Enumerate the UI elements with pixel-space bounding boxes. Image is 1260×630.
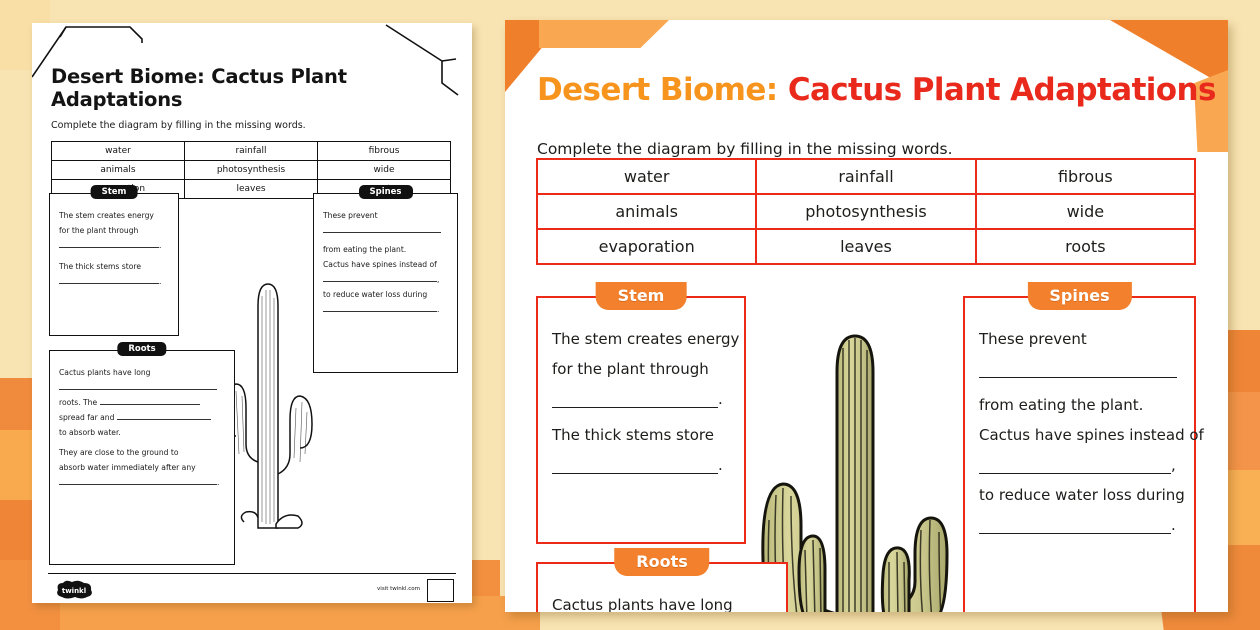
stem-answer-blank-1[interactable]: . (59, 238, 169, 253)
roots-text-line-7: absorb water immediately after any (59, 460, 225, 475)
word-cell: fibrous (318, 142, 451, 161)
word-cell: rainfall (185, 142, 318, 161)
spines-text-line-1: These prevent (979, 324, 1180, 354)
worksheet-main-page[interactable]: Desert Biome: Cactus Plant Adaptations C… (505, 20, 1228, 612)
spines-text-line-6: to reduce water loss during (323, 287, 448, 302)
spines-text-line-4: Cactus have spines instead of (323, 257, 448, 272)
thumbnail-stem-tab-label: Stem (91, 185, 138, 199)
stem-text-line-1: The stem creates energy (59, 208, 169, 223)
table-row: water rainfall fibrous (537, 159, 1195, 194)
spines-tab-label: Spines (1027, 282, 1131, 310)
spines-box: Spines These prevent from eating the pla… (963, 296, 1196, 612)
stem-text-line-1: The stem creates energy (552, 324, 730, 354)
thumbnail-stem-box: Stem The stem creates energy for the pla… (49, 193, 179, 336)
page-title-part-one: Desert Biome: (537, 72, 778, 108)
roots-text-line-1: Cactus plants have long (552, 590, 772, 612)
stem-tab-label: Stem (596, 282, 687, 310)
thumbnail-spines-box: Spines These prevent from eating the pla… (313, 193, 458, 373)
stem-text-line-2: for the plant through (59, 223, 169, 238)
word-cell: water (52, 142, 185, 161)
roots-box: Roots Cactus plants have long (536, 562, 788, 612)
stem-answer-blank-2[interactable]: . (59, 274, 169, 289)
roots-answer-blank-1[interactable] (59, 380, 225, 395)
worksheet-thumbnail-blackwhite[interactable]: Desert Biome: Cactus Plant Adaptations C… (32, 23, 472, 603)
roots-tab-label: Roots (614, 548, 709, 576)
corner-decoration-top-left-light (539, 20, 669, 48)
spines-text-line-4: Cactus have spines instead of (979, 420, 1180, 450)
word-cell: animals (52, 161, 185, 180)
word-cell-water[interactable]: water (537, 159, 756, 194)
word-cell-photosynthesis[interactable]: photosynthesis (756, 194, 975, 229)
spines-answer-blank-1[interactable] (323, 223, 448, 238)
twinkl-badge-icon (427, 579, 454, 602)
visit-url-text: visit twinkl.com (377, 586, 420, 592)
thumbnail-footer-divider (48, 573, 456, 574)
spines-answer-blank-3[interactable]: . (323, 302, 448, 317)
twinkl-logo-icon: twinkl (54, 580, 96, 600)
stem-box: Stem The stem creates energy for the pla… (536, 296, 746, 544)
instruction-text: Complete the diagram by filling in the m… (537, 140, 953, 158)
roots-answer-blank-2[interactable]: roots. The (59, 395, 225, 410)
roots-text-line-6: They are close to the ground to (59, 445, 225, 460)
spines-text-line-3: from eating the plant. (323, 242, 448, 257)
word-cell-animals[interactable]: animals (537, 194, 756, 229)
word-cell-evaporation[interactable]: evaporation (537, 229, 756, 264)
roots-text-line-3: roots. The (59, 398, 97, 407)
roots-text-line-4: spread far and (59, 413, 114, 422)
word-cell: photosynthesis (185, 161, 318, 180)
word-bank-table: water rainfall fibrous animals photosynt… (536, 158, 1196, 265)
spines-answer-blank-1[interactable] (979, 354, 1180, 384)
spines-text-line-3: from eating the plant. (979, 390, 1180, 420)
word-cell-roots[interactable]: roots (976, 229, 1195, 264)
roots-answer-blank-4[interactable]: . (59, 475, 225, 490)
spines-text-line-1: These prevent (323, 208, 448, 223)
stem-answer-blank-2[interactable]: . (552, 450, 730, 480)
word-cell-fibrous[interactable]: fibrous (976, 159, 1195, 194)
page-title: Desert Biome: Cactus Plant Adaptations (537, 72, 1216, 108)
spines-answer-blank-2[interactable]: , (979, 450, 1180, 480)
stem-text-line-4: The thick stems store (59, 259, 169, 274)
stem-text-line-4: The thick stems store (552, 420, 730, 450)
word-cell-rainfall[interactable]: rainfall (756, 159, 975, 194)
table-row: animals photosynthesis wide (52, 161, 451, 180)
table-row: evaporation leaves roots (537, 229, 1195, 264)
stem-answer-blank-1[interactable]: . (552, 384, 730, 414)
table-row: animals photosynthesis wide (537, 194, 1195, 229)
thumbnail-spines-tab-label: Spines (359, 185, 413, 199)
roots-text-line-1: Cactus plants have long (59, 365, 225, 380)
page-title-part-two: Cactus Plant Adaptations (788, 72, 1216, 108)
spines-answer-blank-2[interactable]: , (323, 272, 448, 287)
thumbnail-roots-tab-label: Roots (117, 342, 166, 356)
word-cell-leaves[interactable]: leaves (756, 229, 975, 264)
word-cell-wide[interactable]: wide (976, 194, 1195, 229)
spines-text-line-6: to reduce water loss during (979, 480, 1180, 510)
thumbnail-page-title: Desert Biome: Cactus Plant Adaptations (51, 65, 456, 111)
stem-text-line-2: for the plant through (552, 354, 730, 384)
thumbnail-roots-box: Roots Cactus plants have long roots. The… (49, 350, 235, 565)
spines-answer-blank-3[interactable]: . (979, 510, 1180, 540)
word-cell: wide (318, 161, 451, 180)
svg-text:twinkl: twinkl (62, 587, 86, 595)
table-row: water rainfall fibrous (52, 142, 451, 161)
roots-answer-blank-3[interactable]: spread far and (59, 410, 225, 425)
thumbnail-instruction: Complete the diagram by filling in the m… (51, 120, 456, 131)
roots-text-line-5: to absorb water. (59, 425, 225, 440)
